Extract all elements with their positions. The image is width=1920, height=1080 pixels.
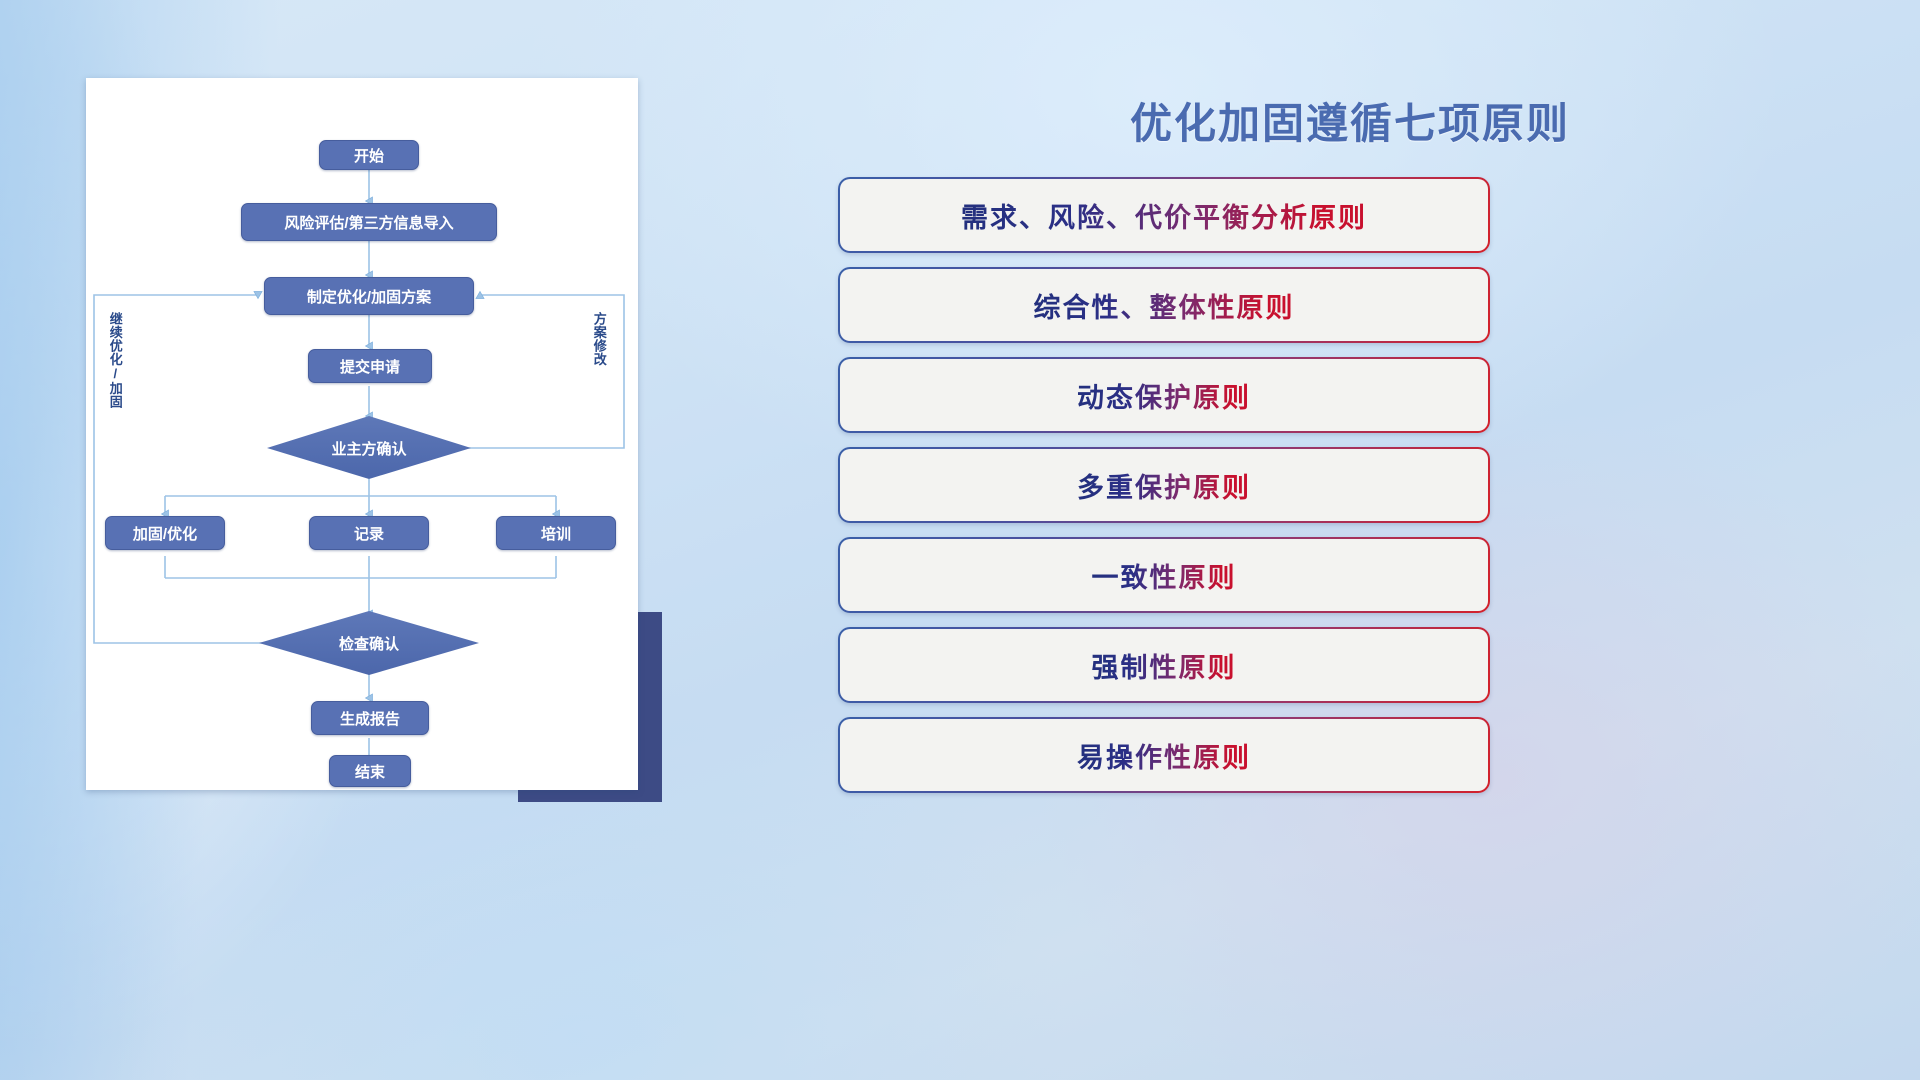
flow-node-plan-label: 制定优化/加固方案	[307, 286, 431, 307]
principle-card[interactable]: 多重保护原则	[838, 447, 1490, 523]
flow-node-submit-label: 提交申请	[340, 356, 400, 377]
principle-card[interactable]: 综合性、整体性原则	[838, 267, 1490, 343]
flow-node-reinforce-label: 加固/优化	[133, 523, 197, 544]
flow-node-check-confirm-label-wrap: 检查确认	[267, 625, 471, 661]
principle-card-inner: 综合性、整体性原则	[840, 269, 1488, 341]
flow-node-training[interactable]: 培训	[496, 516, 616, 550]
principle-card-label: 易操作性原则	[1077, 736, 1251, 775]
principle-card-label: 强制性原则	[1092, 646, 1237, 685]
principle-card-inner: 动态保护原则	[840, 359, 1488, 431]
panel-title: 优化加固遵循七项原则	[940, 90, 1760, 151]
principle-card-inner: 需求、风险、代价平衡分析原则	[840, 179, 1488, 251]
principle-card-label: 综合性、整体性原则	[1034, 286, 1295, 325]
flow-node-training-label: 培训	[541, 523, 571, 544]
principle-card-label: 多重保护原则	[1077, 466, 1251, 505]
principle-card[interactable]: 动态保护原则	[838, 357, 1490, 433]
flow-node-submit[interactable]: 提交申请	[308, 349, 432, 383]
flow-node-owner-confirm-label: 业主方确认	[331, 438, 406, 459]
principle-card-border: 需求、风险、代价平衡分析原则	[838, 177, 1490, 253]
principle-card-inner: 一致性原则	[840, 539, 1488, 611]
flow-node-report-label: 生成报告	[340, 708, 400, 729]
principle-card-border: 易操作性原则	[838, 717, 1490, 793]
principle-card[interactable]: 强制性原则	[838, 627, 1490, 703]
principles-list: 需求、风险、代价平衡分析原则 综合性、整体性原则 动态保护原则 多重保护原则	[838, 177, 1490, 807]
flow-label-plan-revision: 方案修改	[592, 312, 606, 422]
flowchart-page: 开始 风险评估/第三方信息导入 制定优化/加固方案 提交申请 业主方确认 加固/…	[86, 78, 638, 790]
principle-card-border: 动态保护原则	[838, 357, 1490, 433]
flow-node-risk-assessment-label: 风险评估/第三方信息导入	[284, 212, 453, 233]
principle-card-border: 多重保护原则	[838, 447, 1490, 523]
flow-node-record[interactable]: 记录	[309, 516, 429, 550]
principle-card[interactable]: 易操作性原则	[838, 717, 1490, 793]
principles-panel: 优化加固遵循七项原则 需求、风险、代价平衡分析原则 综合性、整体性原则 动态保护…	[820, 60, 1880, 850]
principle-card-border: 综合性、整体性原则	[838, 267, 1490, 343]
flow-node-report[interactable]: 生成报告	[311, 701, 429, 735]
principle-card-label: 一致性原则	[1092, 556, 1237, 595]
flow-node-start[interactable]: 开始	[319, 140, 419, 170]
flow-label-continue-optimize: 继续优化/加固	[108, 312, 122, 444]
flow-node-end[interactable]: 结束	[329, 755, 411, 787]
flow-node-reinforce[interactable]: 加固/优化	[105, 516, 225, 550]
flow-node-check-confirm-label: 检查确认	[339, 633, 399, 654]
flow-node-plan[interactable]: 制定优化/加固方案	[264, 277, 474, 315]
flow-node-risk-assessment[interactable]: 风险评估/第三方信息导入	[241, 203, 497, 241]
flow-node-end-label: 结束	[355, 761, 385, 782]
principle-card-inner: 易操作性原则	[840, 719, 1488, 791]
principle-card-label: 需求、风险、代价平衡分析原则	[961, 196, 1367, 235]
principle-card-label: 动态保护原则	[1077, 376, 1251, 415]
principle-card[interactable]: 一致性原则	[838, 537, 1490, 613]
flow-node-record-label: 记录	[354, 523, 384, 544]
principle-card-inner: 强制性原则	[840, 629, 1488, 701]
principle-card-inner: 多重保护原则	[840, 449, 1488, 521]
principle-card-border: 一致性原则	[838, 537, 1490, 613]
flow-node-start-label: 开始	[354, 145, 384, 166]
principle-card-border: 强制性原则	[838, 627, 1490, 703]
flow-node-owner-confirm-label-wrap: 业主方确认	[267, 430, 471, 466]
principle-card[interactable]: 需求、风险、代价平衡分析原则	[838, 177, 1490, 253]
